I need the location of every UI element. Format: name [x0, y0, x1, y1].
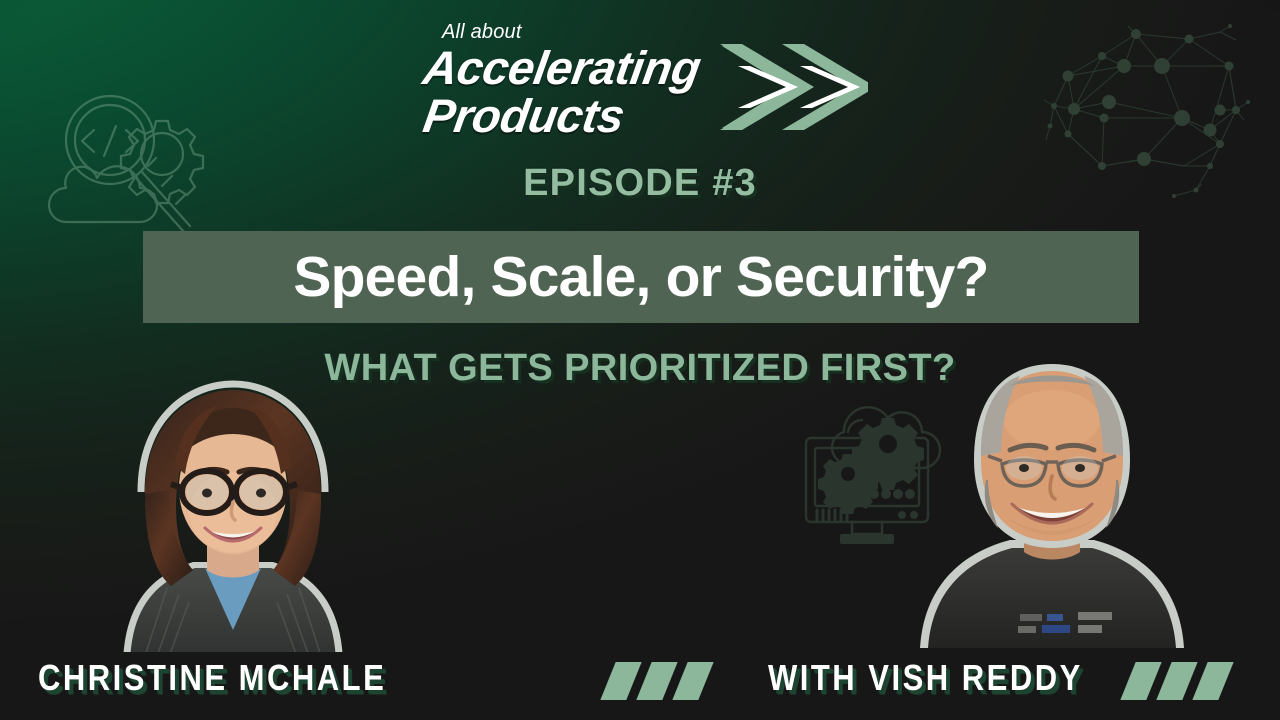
stripe	[636, 662, 677, 700]
episode-label: EPISODE #3	[0, 162, 1280, 205]
logo-word-accelerating: Accelerating	[420, 44, 704, 91]
speaker-left-name: CHRISTINE MCHALE	[38, 659, 386, 696]
video-thumbnail: All about Accelerating Products EPISODE	[0, 0, 1280, 720]
stripe	[1156, 662, 1197, 700]
diagonal-stripes-icon-right	[1128, 662, 1226, 700]
subtitle: WHAT GETS PRIORITIZED FIRST?	[300, 342, 980, 396]
logo-word-products: Products	[420, 92, 627, 139]
page-title: Speed, Scale, or Security?	[293, 249, 988, 306]
double-chevron-right-icon	[720, 40, 868, 134]
title-band: Speed, Scale, or Security?	[143, 231, 1139, 323]
speaker-right-avatar	[902, 348, 1202, 648]
diagonal-stripes-icon-left	[608, 662, 706, 700]
speaker-left-avatar	[83, 362, 383, 662]
speaker-right-name: WITH VISH REDDY	[768, 659, 1083, 696]
logo-tagline: All about	[442, 22, 522, 42]
show-logo: All about Accelerating Products	[424, 22, 864, 138]
